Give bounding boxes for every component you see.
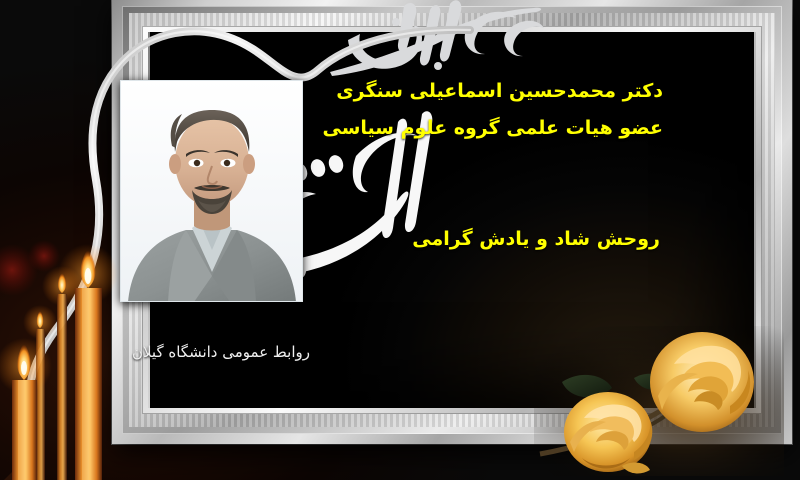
memorial-poster: دکتر محمدحسین اسماعیلی سنگری عضو هیات عل… [0,0,800,480]
publisher-credit: روابط عمومی دانشگاه گیلان [132,343,310,361]
deceased-role: عضو هیات علمی گروه علوم سیاسی [323,117,664,139]
portrait-photo [120,80,303,302]
condolence-phrase: روحش شاد و یادش گرامی [412,228,660,250]
deceased-name: دکتر محمدحسین اسماعیلی سنگری [336,80,663,102]
